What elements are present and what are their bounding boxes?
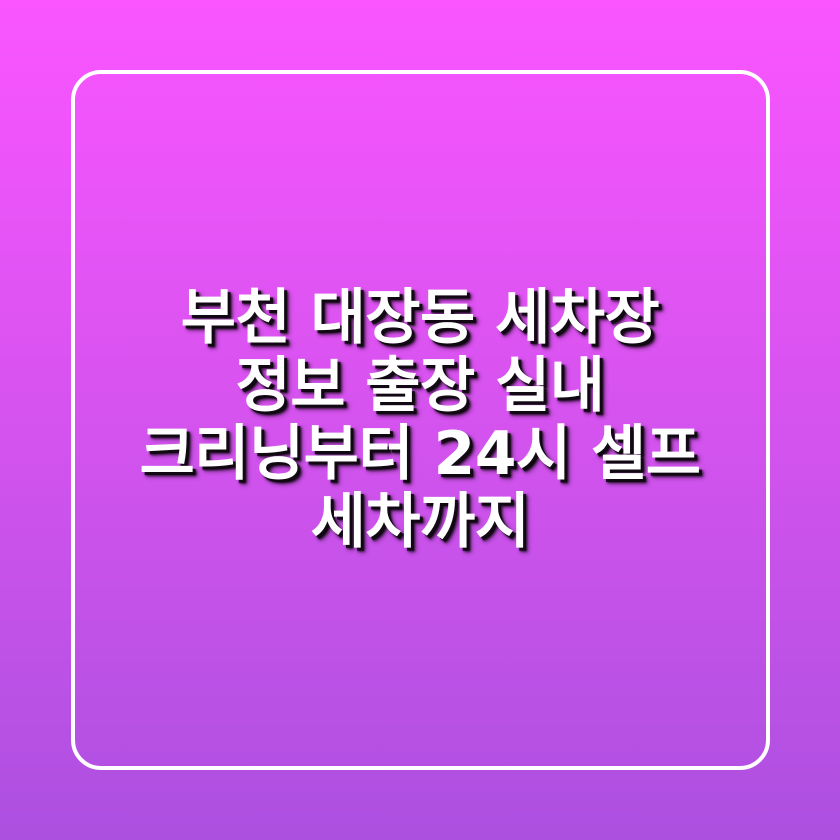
poster-headline: 부천 대장동 세차장 정보 출장 실내 크리닝부터 24시 셀프 세차까지 bbox=[120, 284, 720, 556]
headline-line-1: 부천 대장동 세차장 bbox=[120, 284, 720, 352]
poster-canvas: 부천 대장동 세차장 정보 출장 실내 크리닝부터 24시 셀프 세차까지 bbox=[0, 0, 840, 840]
headline-line-4: 세차까지 bbox=[120, 488, 720, 556]
headline-container: 부천 대장동 세차장 정보 출장 실내 크리닝부터 24시 셀프 세차까지 bbox=[0, 0, 840, 840]
headline-line-3: 크리닝부터 24시 셀프 bbox=[120, 420, 720, 488]
headline-line-2: 정보 출장 실내 bbox=[120, 352, 720, 420]
